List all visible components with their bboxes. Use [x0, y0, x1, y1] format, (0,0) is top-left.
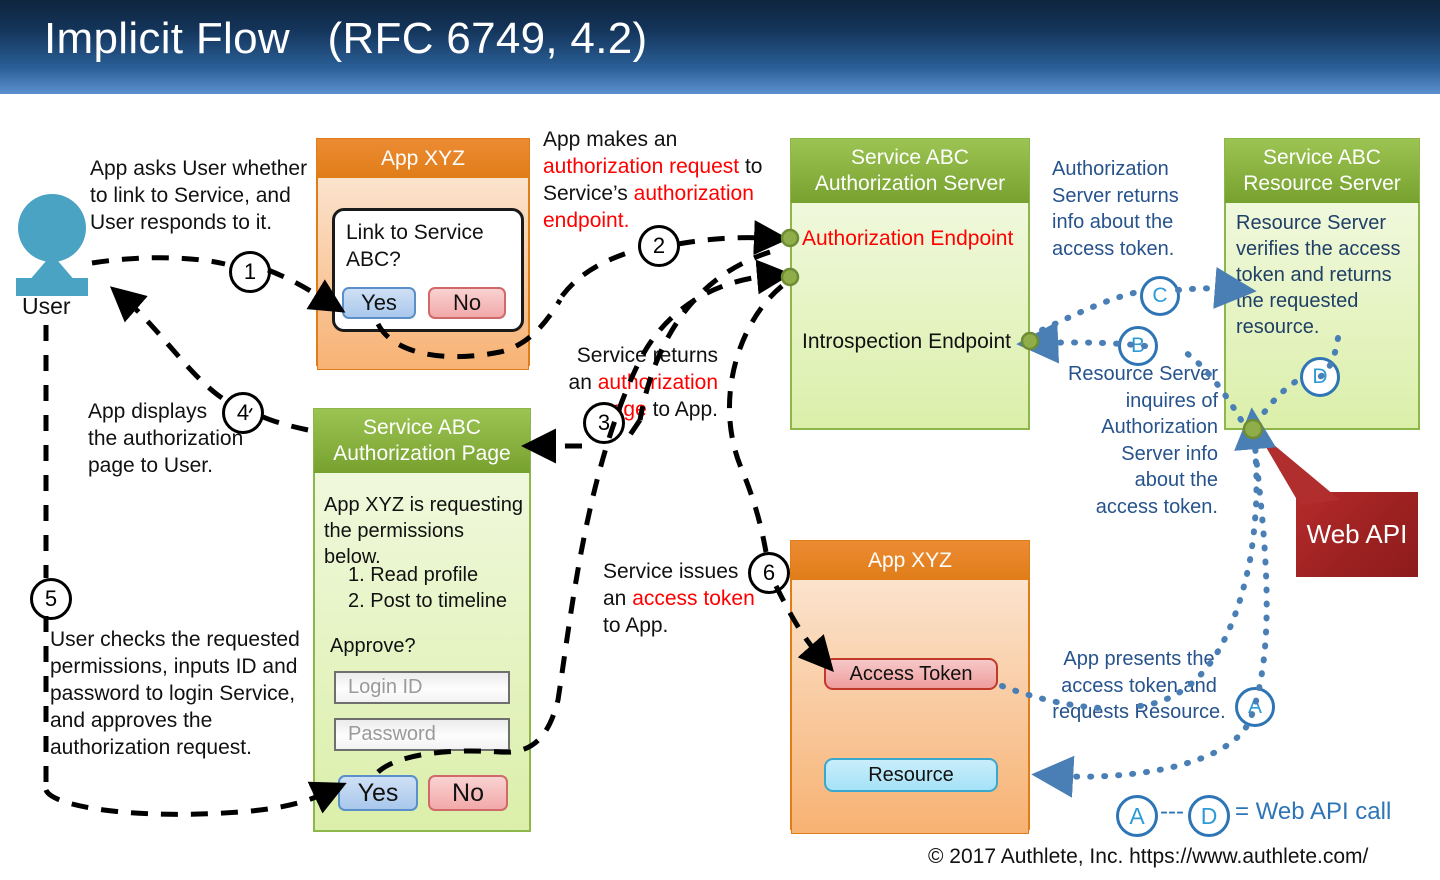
- auth-page-yes-button[interactable]: Yes: [338, 775, 418, 811]
- auth-page-title-line1: Service ABC: [363, 416, 481, 439]
- note-b-line-6: access token.: [1096, 496, 1218, 518]
- note-2-seg-4: Service’s: [543, 182, 634, 205]
- note-5-line-3: password to login Service,: [50, 682, 295, 705]
- resource-server-body-text: Resource Server verifies the access toke…: [1236, 210, 1408, 340]
- note-b-line-5: about the: [1135, 469, 1218, 491]
- note-1-text: App asks User whether to link to Service…: [90, 155, 322, 236]
- resource-server-title-line2: Resource Server: [1243, 172, 1401, 195]
- login-id-input[interactable]: Login ID: [334, 671, 510, 704]
- note-2-text: App makes an authorization request to Se…: [543, 126, 793, 234]
- auth-server-title-line2: Authorization Server: [815, 172, 1005, 195]
- note-4-line-3: page to User.: [88, 454, 213, 477]
- resource-server-title-line1: Service ABC: [1263, 146, 1381, 169]
- note-3-seg-3: authorization: [598, 371, 718, 394]
- legend-letter-a: A: [1116, 795, 1158, 837]
- auth-page-title-line2: Authorization Page: [333, 442, 510, 465]
- letter-marker-b: B: [1118, 326, 1158, 366]
- introspection-endpoint-label: Introspection Endpoint: [802, 329, 1011, 355]
- note-b-line-3: Authorization: [1101, 416, 1218, 438]
- app-xyz-top-title: App XYZ: [317, 139, 529, 178]
- note-c-line-4: access token.: [1052, 238, 1174, 260]
- note-6-seg-4: to App.: [603, 614, 668, 637]
- note-3-seg-1: Service returns: [577, 344, 718, 367]
- auth-page-intro-text: App XYZ is requesting the permissions be…: [324, 492, 524, 570]
- note-a-text: App presents the access token and reques…: [1040, 646, 1238, 726]
- authorization-page-title: Service ABC Authorization Page: [314, 409, 530, 473]
- note-6-seg-2: an: [603, 587, 632, 610]
- step-marker-6: 6: [748, 552, 790, 594]
- approve-label: Approve?: [330, 633, 416, 659]
- resource-pill: Resource: [824, 758, 998, 792]
- letter-marker-a: A: [1235, 687, 1275, 727]
- note-3-seg-2: an: [569, 371, 598, 394]
- step-marker-5: 5: [30, 578, 72, 620]
- note-a-line-1: App presents the: [1063, 648, 1214, 670]
- note-b-line-2: inquires of: [1126, 390, 1218, 412]
- link-dialog-question: Link to Service ABC?: [346, 219, 511, 273]
- note-2-seg-3: to: [739, 155, 762, 178]
- web-api-callout: Web API: [1296, 492, 1418, 577]
- note-4-line-1: App displays: [88, 400, 207, 423]
- note-6-seg-1: Service issues: [603, 560, 738, 583]
- resource-server-title: Service ABC Resource Server: [1225, 139, 1419, 203]
- note-1-line-1: App asks User whether: [90, 157, 307, 180]
- note-2-seg-1: App makes an: [543, 128, 677, 151]
- auth-server-title-line1: Service ABC: [851, 146, 969, 169]
- note-c-line-2: Server returns: [1052, 185, 1179, 207]
- page-title: Implicit Flow (RFC 6749, 4.2): [44, 14, 647, 64]
- permission-item-1: 1. Read profile: [348, 562, 478, 588]
- step-marker-1: 1: [229, 251, 271, 293]
- permission-item-2: 2. Post to timeline: [348, 588, 507, 614]
- step-marker-4: 4: [222, 392, 264, 434]
- note-3-seg-5: to App.: [647, 398, 718, 421]
- note-4-text: App displays the authorization page to U…: [88, 398, 298, 479]
- note-c-line-1: Authorization: [1052, 158, 1169, 180]
- note-3-text: Service returns an authorization page to…: [538, 342, 718, 423]
- note-c-line-3: info about the: [1052, 211, 1173, 233]
- note-2-seg-2: authorization request: [543, 155, 739, 178]
- step-marker-2: 2: [638, 225, 680, 267]
- auth-page-no-button[interactable]: No: [428, 775, 508, 811]
- authorization-endpoint-label: Authorization Endpoint: [802, 226, 1013, 252]
- app-xyz-bottom-title: App XYZ: [791, 541, 1029, 580]
- note-5-text: User checks the requested permissions, i…: [50, 626, 320, 761]
- legend-dash: ---: [1160, 798, 1184, 826]
- link-dialog-no-button[interactable]: No: [428, 287, 506, 319]
- authorization-server-title: Service ABC Authorization Server: [791, 139, 1029, 203]
- user-label: User: [22, 293, 71, 320]
- letter-marker-c: C: [1140, 276, 1180, 316]
- copyright-footer: © 2017 Authlete, Inc. https://www.authle…: [928, 845, 1368, 869]
- password-input[interactable]: Password: [334, 718, 510, 751]
- access-token-pill: Access Token: [824, 658, 998, 690]
- note-5-line-4: and approves the: [50, 709, 212, 732]
- note-4-line-2: the authorization: [88, 427, 243, 450]
- legend-letter-d: D: [1188, 795, 1230, 837]
- note-b-line-1: Resource Server: [1068, 363, 1218, 385]
- letter-marker-d: D: [1300, 357, 1340, 397]
- note-c-text: Authorization Server returns info about …: [1052, 156, 1232, 262]
- link-dialog-yes-button[interactable]: Yes: [342, 287, 416, 319]
- note-1-line-3: User responds to it.: [90, 211, 272, 234]
- step-marker-3: 3: [583, 402, 625, 444]
- note-5-line-5: authorization request.: [50, 736, 252, 759]
- note-b-line-4: Server info: [1121, 443, 1218, 465]
- authorization-page-panel: Service ABC Authorization Page: [313, 408, 531, 832]
- note-2-seg-6: endpoint.: [543, 209, 629, 232]
- note-a-line-3: requests Resource.: [1052, 701, 1225, 723]
- legend-label: = Web API call: [1235, 798, 1391, 826]
- note-1-line-2: to link to Service, and: [90, 184, 291, 207]
- note-5-line-2: permissions, inputs ID and: [50, 655, 297, 678]
- note-a-line-2: access token and: [1061, 675, 1217, 697]
- note-5-line-1: User checks the requested: [50, 628, 300, 651]
- note-b-text: Resource Server inquires of Authorizatio…: [1040, 361, 1218, 520]
- authorization-server-panel: Service ABC Authorization Server: [790, 138, 1030, 430]
- note-6-seg-3: access token: [632, 587, 755, 610]
- note-2-seg-5: authorization: [634, 182, 754, 205]
